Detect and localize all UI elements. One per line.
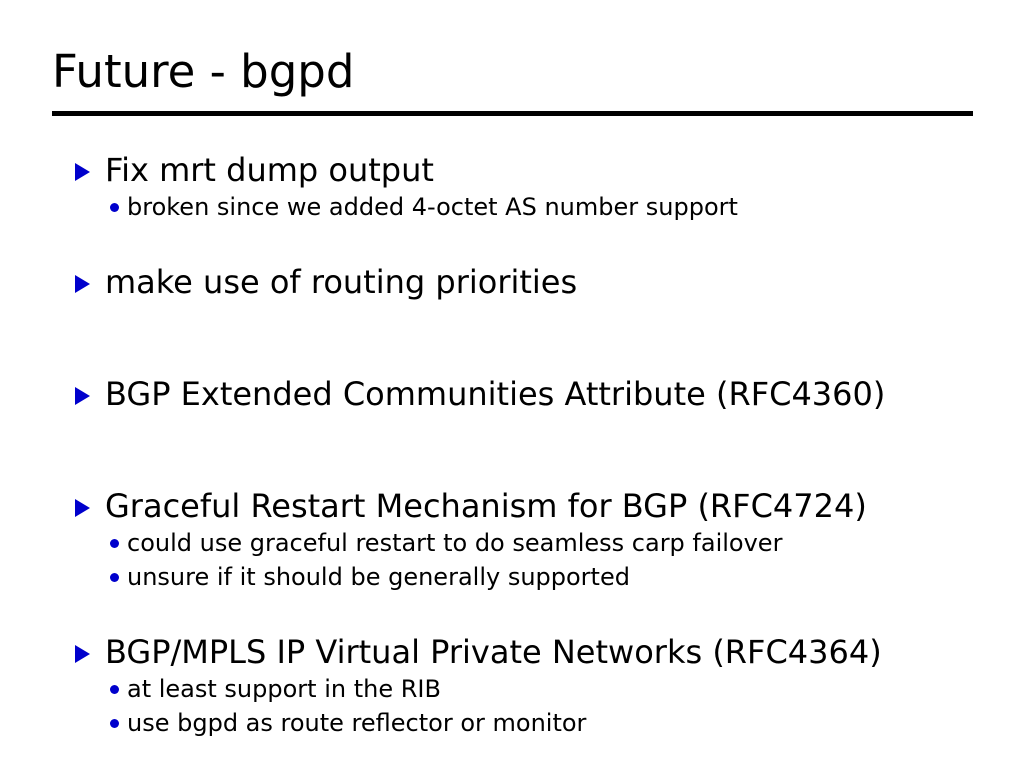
title-block: Future - bgpd bbox=[52, 46, 973, 98]
list-item-label: Graceful Restart Mechanism for BGP (RFC4… bbox=[105, 486, 867, 526]
dot-icon bbox=[110, 203, 119, 212]
triangle-right-icon bbox=[75, 163, 90, 181]
list-item: broken since we added 4-octet AS number … bbox=[0, 190, 1024, 224]
list-item-label: use bgpd as route reflector or monitor bbox=[127, 706, 586, 740]
bullet-group: BGP/MPLS IP Virtual Private Networks (RF… bbox=[0, 632, 1024, 740]
list-item-label: at least support in the RIB bbox=[127, 672, 441, 706]
list-item: Graceful Restart Mechanism for BGP (RFC4… bbox=[0, 486, 1024, 526]
list-item-label: could use graceful restart to do seamles… bbox=[127, 526, 782, 560]
list-item: unsure if it should be generally support… bbox=[0, 560, 1024, 594]
dot-icon bbox=[110, 719, 119, 728]
spacer bbox=[0, 414, 1024, 452]
list-item: BGP/MPLS IP Virtual Private Networks (RF… bbox=[0, 632, 1024, 672]
list-item-label: BGP/MPLS IP Virtual Private Networks (RF… bbox=[105, 632, 882, 672]
title-divider bbox=[52, 111, 973, 116]
list-item: make use of routing priorities bbox=[0, 262, 1024, 302]
list-item-label: broken since we added 4-octet AS number … bbox=[127, 190, 738, 224]
sub-bullet-list: could use graceful restart to do seamles… bbox=[0, 526, 1024, 594]
triangle-right-icon bbox=[75, 387, 90, 405]
spacer bbox=[0, 302, 1024, 340]
list-item: use bgpd as route reflector or monitor bbox=[0, 706, 1024, 740]
list-item-label: BGP Extended Communities Attribute (RFC4… bbox=[105, 374, 885, 414]
list-item: BGP Extended Communities Attribute (RFC4… bbox=[0, 374, 1024, 414]
list-item: could use graceful restart to do seamles… bbox=[0, 526, 1024, 560]
triangle-right-icon bbox=[75, 499, 90, 517]
list-item-label: unsure if it should be generally support… bbox=[127, 560, 630, 594]
presentation-slide: Future - bgpd Fix mrt dump output broken… bbox=[0, 0, 1024, 768]
triangle-right-icon bbox=[75, 275, 90, 293]
bullet-group: make use of routing priorities bbox=[0, 262, 1024, 302]
spacer bbox=[0, 452, 1024, 486]
bullet-group: Fix mrt dump output broken since we adde… bbox=[0, 150, 1024, 224]
list-item: at least support in the RIB bbox=[0, 672, 1024, 706]
list-item-label: Fix mrt dump output bbox=[105, 150, 434, 190]
spacer bbox=[0, 594, 1024, 632]
dot-icon bbox=[110, 573, 119, 582]
bullet-group: BGP Extended Communities Attribute (RFC4… bbox=[0, 374, 1024, 414]
list-item-label: make use of routing priorities bbox=[105, 262, 577, 302]
bullet-list: Fix mrt dump output broken since we adde… bbox=[0, 150, 1024, 740]
page-title: Future - bgpd bbox=[52, 46, 973, 98]
dot-icon bbox=[110, 685, 119, 694]
spacer bbox=[0, 224, 1024, 262]
sub-bullet-list: at least support in the RIB use bgpd as … bbox=[0, 672, 1024, 740]
bullet-group: Graceful Restart Mechanism for BGP (RFC4… bbox=[0, 486, 1024, 594]
spacer bbox=[0, 340, 1024, 374]
triangle-right-icon bbox=[75, 645, 90, 663]
sub-bullet-list: broken since we added 4-octet AS number … bbox=[0, 190, 1024, 224]
dot-icon bbox=[110, 539, 119, 548]
list-item: Fix mrt dump output bbox=[0, 150, 1024, 190]
